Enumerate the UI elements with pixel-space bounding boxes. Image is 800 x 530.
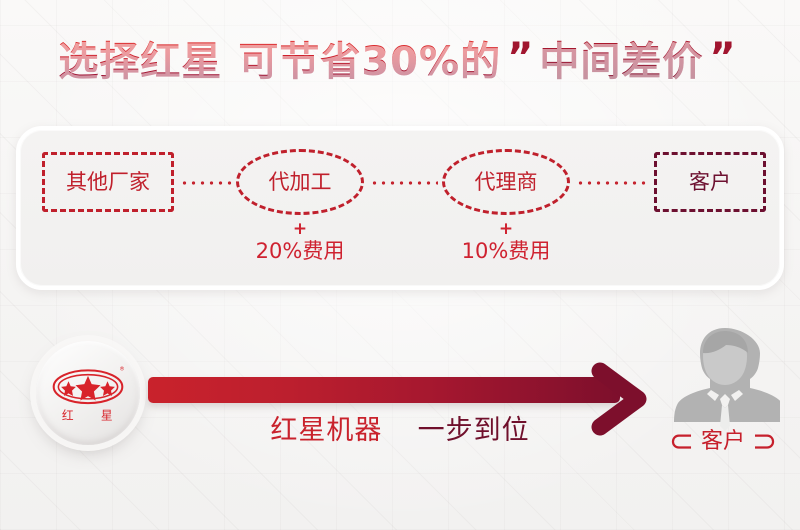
supply-chain-diagram: 其他厂家 代加工 代理商 客户 + 20%费用 + 10%费用 bbox=[20, 130, 788, 294]
chain-connector-3 bbox=[576, 181, 650, 185]
fee-markup-agent: + 10%费用 bbox=[426, 220, 586, 264]
headline-emphasis: 中间差价 bbox=[539, 29, 703, 87]
customer-tag-label: 客户 bbox=[701, 431, 745, 453]
quote-close-icon: ” bbox=[703, 38, 741, 78]
bracket-right-icon: ⊃ bbox=[752, 427, 777, 457]
bracket-left-icon: ⊂ bbox=[669, 427, 694, 457]
fee-amount: 20%费用 bbox=[220, 240, 380, 264]
chain-node-label: 代加工 bbox=[269, 172, 332, 193]
chain-node-oem: 代加工 bbox=[236, 149, 364, 215]
chain-node-other-factory: 其他厂家 bbox=[42, 152, 174, 212]
chain-node-customer: 客户 bbox=[654, 152, 766, 212]
businessman-icon bbox=[670, 322, 780, 432]
fee-markup-oem: + 20%费用 bbox=[220, 220, 380, 264]
supply-chain-card: 其他厂家 代加工 代理商 客户 + 20%费用 + 10%费用 bbox=[16, 126, 784, 290]
fee-amount: 10%费用 bbox=[426, 240, 586, 264]
businessman-avatar bbox=[670, 322, 780, 432]
chain-connector-1 bbox=[180, 181, 232, 185]
chain-connector-2 bbox=[370, 181, 438, 185]
headline-part2: 可节省30%的 bbox=[238, 29, 501, 87]
chain-node-agent: 代理商 bbox=[442, 149, 570, 215]
plus-icon: + bbox=[426, 220, 586, 239]
chain-node-label: 代理商 bbox=[475, 172, 538, 193]
chain-node-label: 客户 bbox=[689, 172, 731, 193]
quote-open-icon: ” bbox=[501, 38, 539, 78]
chain-node-label: 其他厂家 bbox=[66, 172, 150, 193]
slogan-brand: 红星机器 bbox=[270, 415, 382, 446]
headline-part1: 选择红星 bbox=[58, 29, 222, 87]
arrow-shaft bbox=[148, 377, 620, 403]
plus-icon: + bbox=[220, 220, 380, 239]
svg-text:®: ® bbox=[119, 365, 124, 372]
slogan-tail: 一步到位 bbox=[418, 415, 530, 446]
headline: 选择红星 可节省30%的 ” 中间差价 ” bbox=[0, 24, 800, 92]
customer-tag: ⊂ 客户 ⊃ bbox=[648, 425, 798, 459]
poster-stage: 选择红星 可节省30%的 ” 中间差价 ” 其他厂家 代加工 代理商 客户 bbox=[0, 0, 800, 530]
